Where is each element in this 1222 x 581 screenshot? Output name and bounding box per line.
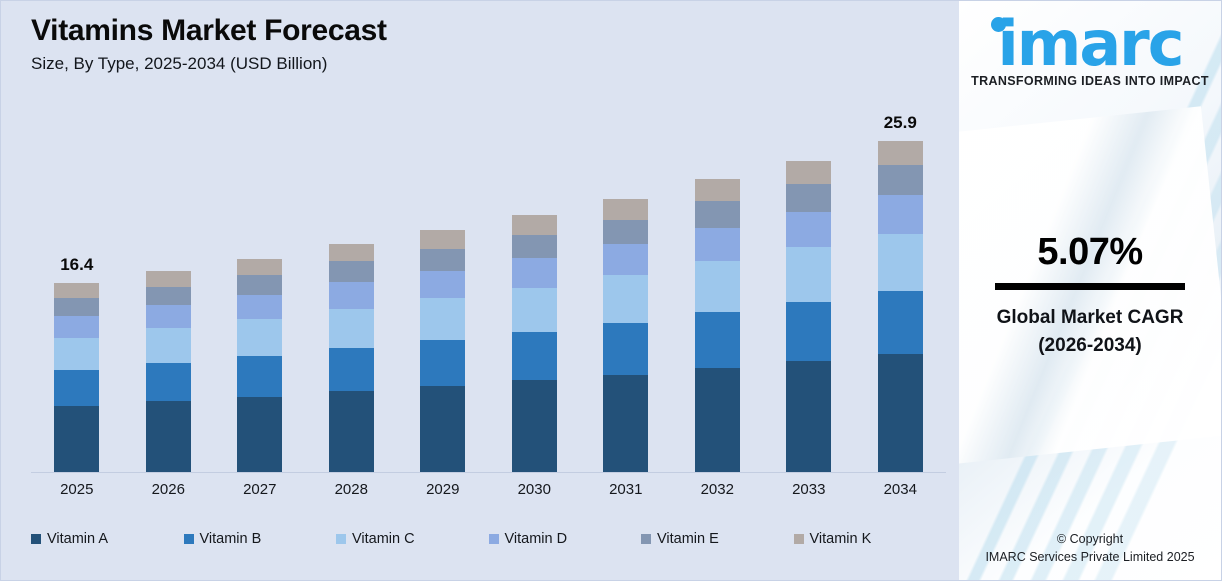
copyright-line-2: IMARC Services Private Limited 2025 bbox=[959, 548, 1221, 567]
bar-segment-vitamin-d bbox=[512, 258, 557, 288]
bar-segment-vitamin-a bbox=[695, 368, 740, 473]
stacked-bar bbox=[237, 259, 282, 473]
bar-segment-vitamin-d bbox=[786, 212, 831, 248]
plot-area: 16.425.9 bbox=[31, 111, 946, 473]
stacked-bar bbox=[512, 215, 557, 473]
x-axis-tick-2028: 2028 bbox=[306, 481, 398, 498]
bar-segment-vitamin-b bbox=[237, 356, 282, 396]
stacked-bar bbox=[786, 161, 831, 473]
bar-segment-vitamin-c bbox=[695, 261, 740, 312]
legend-swatch-icon bbox=[794, 534, 804, 544]
legend-label: Vitamin D bbox=[505, 531, 568, 547]
bar-column bbox=[306, 111, 398, 473]
bar-segment-vitamin-b bbox=[329, 348, 374, 391]
cagr-value: 5.07% bbox=[959, 233, 1221, 271]
bar-segment-vitamin-e bbox=[512, 235, 557, 258]
legend-item-vitamin-e[interactable]: Vitamin E bbox=[641, 531, 794, 547]
bar-segment-vitamin-e bbox=[420, 249, 465, 271]
stacked-bar bbox=[329, 244, 374, 473]
bar-segment-vitamin-c bbox=[54, 338, 99, 370]
bar-segment-vitamin-c bbox=[329, 309, 374, 348]
bar-segment-vitamin-b bbox=[54, 370, 99, 406]
legend-swatch-icon bbox=[31, 534, 41, 544]
axis-baseline bbox=[31, 472, 946, 473]
logo-dot-icon bbox=[991, 17, 1006, 32]
cagr-label-line1: Global Market CAGR bbox=[959, 304, 1221, 332]
bar-segment-vitamin-a bbox=[786, 361, 831, 473]
bar-segment-vitamin-e bbox=[54, 298, 99, 315]
bar-value-label: 25.9 bbox=[884, 113, 917, 133]
x-axis-ticks: 2025202620272028202920302031203220332034 bbox=[31, 481, 946, 498]
bar-segment-vitamin-b bbox=[512, 332, 557, 381]
x-axis-tick-2034: 2034 bbox=[855, 481, 947, 498]
bar-segment-vitamin-c bbox=[786, 247, 831, 301]
bar-segment-vitamin-c bbox=[878, 234, 923, 292]
bar-segment-vitamin-k bbox=[420, 230, 465, 249]
x-axis-tick-2029: 2029 bbox=[397, 481, 489, 498]
bar-segment-vitamin-k bbox=[603, 199, 648, 220]
legend-swatch-icon bbox=[336, 534, 346, 544]
chart-header: Vitamins Market Forecast Size, By Type, … bbox=[31, 13, 387, 75]
copyright-block: © Copyright IMARC Services Private Limit… bbox=[959, 530, 1221, 568]
bar-segment-vitamin-d bbox=[420, 271, 465, 299]
stacked-bar bbox=[695, 179, 740, 473]
bar-column bbox=[580, 111, 672, 473]
bar-segment-vitamin-a bbox=[878, 354, 923, 473]
bar-segment-vitamin-k bbox=[329, 244, 374, 261]
legend-swatch-icon bbox=[184, 534, 194, 544]
bar-column bbox=[763, 111, 855, 473]
bar-segment-vitamin-e bbox=[878, 165, 923, 195]
chart-legend: Vitamin AVitamin BVitamin CVitamin DVita… bbox=[31, 531, 946, 547]
bar-segment-vitamin-k bbox=[695, 179, 740, 201]
bar-segment-vitamin-b bbox=[786, 302, 831, 361]
legend-label: Vitamin K bbox=[810, 531, 872, 547]
bar-segment-vitamin-k bbox=[237, 259, 282, 275]
bar-segment-vitamin-e bbox=[786, 184, 831, 212]
bar-segment-vitamin-d bbox=[146, 305, 191, 328]
bar-segment-vitamin-k bbox=[512, 215, 557, 235]
bar-segment-vitamin-d bbox=[695, 228, 740, 262]
x-axis-tick-2032: 2032 bbox=[672, 481, 764, 498]
x-axis-tick-2025: 2025 bbox=[31, 481, 123, 498]
bar-segment-vitamin-b bbox=[878, 291, 923, 353]
legend-swatch-icon bbox=[489, 534, 499, 544]
bar-segment-vitamin-d bbox=[54, 316, 99, 338]
bar-segment-vitamin-c bbox=[603, 275, 648, 322]
legend-label: Vitamin A bbox=[47, 531, 108, 547]
bar-segment-vitamin-a bbox=[603, 375, 648, 473]
bar-segment-vitamin-b bbox=[146, 363, 191, 401]
bar-column bbox=[397, 111, 489, 473]
bar-column: 25.9 bbox=[855, 111, 947, 473]
x-axis-tick-2030: 2030 bbox=[489, 481, 581, 498]
bar-segment-vitamin-e bbox=[237, 275, 282, 295]
cagr-label-line2: (2026-2034) bbox=[959, 332, 1221, 360]
cagr-divider bbox=[995, 283, 1185, 290]
bar-segment-vitamin-a bbox=[512, 380, 557, 473]
bar-segment-vitamin-c bbox=[420, 298, 465, 340]
stacked-bar bbox=[878, 141, 923, 473]
legend-swatch-icon bbox=[641, 534, 651, 544]
x-axis-tick-2033: 2033 bbox=[763, 481, 855, 498]
bar-segment-vitamin-k bbox=[146, 271, 191, 287]
bar-segment-vitamin-d bbox=[329, 282, 374, 309]
bar-segment-vitamin-b bbox=[420, 340, 465, 386]
x-axis-tick-2031: 2031 bbox=[580, 481, 672, 498]
legend-item-vitamin-b[interactable]: Vitamin B bbox=[184, 531, 337, 547]
bar-column bbox=[489, 111, 581, 473]
bar-segment-vitamin-c bbox=[512, 288, 557, 332]
page-title: Vitamins Market Forecast bbox=[31, 13, 387, 48]
legend-label: Vitamin C bbox=[352, 531, 415, 547]
legend-label: Vitamin E bbox=[657, 531, 719, 547]
bar-segment-vitamin-d bbox=[237, 295, 282, 319]
bar-segment-vitamin-d bbox=[878, 195, 923, 233]
x-axis-tick-2026: 2026 bbox=[123, 481, 215, 498]
bar-segment-vitamin-k bbox=[786, 161, 831, 184]
legend-label: Vitamin B bbox=[200, 531, 262, 547]
bar-column bbox=[214, 111, 306, 473]
bar-segment-vitamin-a bbox=[237, 397, 282, 473]
legend-item-vitamin-a[interactable]: Vitamin A bbox=[31, 531, 184, 547]
bar-segment-vitamin-d bbox=[603, 244, 648, 275]
bar-segment-vitamin-e bbox=[603, 220, 648, 244]
infographic-page: Vitamins Market Forecast Size, By Type, … bbox=[0, 0, 1222, 581]
imarc-logo: imarc TRANSFORMING IDEAS INTO IMPACT bbox=[959, 15, 1221, 88]
legend-item-vitamin-k[interactable]: Vitamin K bbox=[794, 531, 947, 547]
chart-subtitle: Size, By Type, 2025-2034 (USD Billion) bbox=[31, 54, 387, 74]
copyright-line-1: © Copyright bbox=[959, 530, 1221, 549]
bar-segment-vitamin-b bbox=[695, 312, 740, 368]
logo-tagline: TRANSFORMING IDEAS INTO IMPACT bbox=[959, 74, 1221, 88]
bar-segment-vitamin-b bbox=[603, 323, 648, 375]
bar-segment-vitamin-a bbox=[146, 401, 191, 473]
bar-segment-vitamin-e bbox=[695, 201, 740, 228]
bar-segment-vitamin-e bbox=[146, 287, 191, 306]
bar-segment-vitamin-k bbox=[878, 141, 923, 165]
legend-item-vitamin-c[interactable]: Vitamin C bbox=[336, 531, 489, 547]
bar-segment-vitamin-k bbox=[54, 283, 99, 298]
bar-segment-vitamin-e bbox=[329, 261, 374, 282]
bar-column: 16.4 bbox=[31, 111, 123, 473]
bar-segment-vitamin-a bbox=[420, 386, 465, 473]
stacked-bar bbox=[420, 230, 465, 473]
stacked-bar bbox=[146, 271, 191, 473]
legend-item-vitamin-d[interactable]: Vitamin D bbox=[489, 531, 642, 547]
bar-segment-vitamin-c bbox=[237, 319, 282, 356]
bar-column bbox=[672, 111, 764, 473]
bar-segment-vitamin-a bbox=[329, 391, 374, 473]
stacked-bar bbox=[603, 199, 648, 473]
bar-value-label: 16.4 bbox=[60, 255, 93, 275]
bar-group: 16.425.9 bbox=[31, 111, 946, 473]
stacked-bar bbox=[54, 283, 99, 473]
bar-segment-vitamin-a bbox=[54, 406, 99, 473]
cagr-callout: 5.07% Global Market CAGR (2026-2034) bbox=[959, 233, 1221, 359]
bar-segment-vitamin-c bbox=[146, 328, 191, 363]
chart-panel: Vitamins Market Forecast Size, By Type, … bbox=[1, 1, 959, 580]
brand-panel: imarc TRANSFORMING IDEAS INTO IMPACT 5.0… bbox=[959, 1, 1221, 580]
x-axis-tick-2027: 2027 bbox=[214, 481, 306, 498]
bar-column bbox=[123, 111, 215, 473]
